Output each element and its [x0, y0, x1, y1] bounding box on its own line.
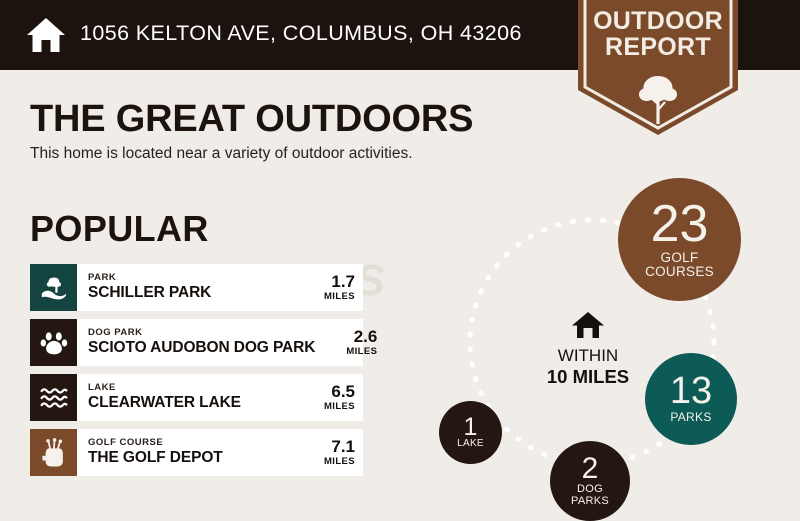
poi-category: PARK [88, 273, 293, 284]
within-line-1: WITHIN [518, 346, 658, 366]
poi-distance: 6.5 MILES [293, 374, 363, 421]
page-subtitle: This home is located near a variety of o… [30, 145, 413, 163]
house-icon [24, 13, 68, 57]
paw-print-icon [40, 329, 68, 357]
list-item[interactable]: LAKE CLEARWATER LAKE 6.5 MILES [30, 374, 363, 421]
bubble-golf-courses: 23 GOLF COURSES [618, 178, 741, 301]
bubble-label-line-2: COURSES [645, 265, 714, 279]
bubble-parks: 13 PARKS [645, 353, 737, 445]
popular-places-list: PARK SCHILLER PARK 1.7 MILES DOG PARK [30, 264, 363, 484]
bubble-label-line-1: LAKE [457, 439, 484, 450]
bubble-count: 23 [651, 200, 709, 249]
poi-text: LAKE CLEARWATER LAKE [77, 374, 293, 421]
bubble-count: 1 [464, 416, 478, 440]
list-item[interactable]: PARK SCHILLER PARK 1.7 MILES [30, 264, 363, 311]
poi-distance-unit: MILES [346, 346, 377, 357]
outdoor-report-infographic: 1056 KELTON AVE, COLUMBUS, OH 43206 OUTD… [0, 0, 800, 521]
poi-distance: 7.1 MILES [293, 429, 363, 476]
list-item[interactable]: GOLF COURSE THE GOLF DEPOT 7.1 MILES [30, 429, 363, 476]
poi-distance-value: 1.7 [331, 273, 355, 291]
poi-category: GOLF COURSE [88, 438, 293, 449]
poi-distance-unit: MILES [324, 456, 355, 467]
poi-text: PARK SCHILLER PARK [77, 264, 293, 311]
page-title: THE GREAT OUTDOORS [30, 98, 473, 141]
golf-bag-icon [40, 438, 68, 468]
bubble-label-line-2: PARKS [571, 496, 609, 508]
bubble-label-line-1: DOG [577, 484, 603, 496]
poi-icon-box [30, 429, 77, 476]
bubble-lake: 1 LAKE [439, 401, 502, 464]
poi-name: THE GOLF DEPOT [88, 449, 293, 467]
poi-text: GOLF COURSE THE GOLF DEPOT [77, 429, 293, 476]
poi-distance-value: 7.1 [331, 438, 355, 456]
poi-distance-unit: MILES [324, 401, 355, 412]
poi-icon-box [30, 264, 77, 311]
bubble-label-line-1: PARKS [670, 411, 711, 424]
poi-distance-value: 2.6 [354, 328, 378, 346]
bubble-label-line-1: GOLF [661, 251, 699, 265]
bubble-dog-parks: 2 DOG PARKS [550, 441, 630, 521]
poi-name: CLEARWATER LAKE [88, 394, 293, 412]
poi-name: SCHILLER PARK [88, 284, 293, 302]
water-waves-icon [39, 385, 69, 411]
within-radius-label: WITHIN 10 MILES [518, 310, 658, 387]
poi-distance-value: 6.5 [331, 383, 355, 401]
outdoor-report-badge: OUTDOOR REPORT [578, 0, 738, 135]
bubble-count: 2 [582, 455, 599, 483]
popular-section-heading: POPULAR [30, 208, 209, 250]
park-tree-icon [39, 273, 69, 303]
property-address: 1056 KELTON AVE, COLUMBUS, OH 43206 [80, 21, 522, 46]
poi-icon-box [30, 319, 77, 366]
list-item[interactable]: DOG PARK SCIOTO AUDOBON DOG PARK 2.6 MIL… [30, 319, 363, 366]
poi-category: LAKE [88, 383, 293, 394]
poi-name: SCIOTO AUDOBON DOG PARK [88, 339, 315, 357]
poi-distance: 1.7 MILES [293, 264, 363, 311]
within-line-2: 10 MILES [518, 366, 658, 387]
bubble-count: 13 [670, 374, 712, 410]
poi-distance: 2.6 MILES [315, 319, 385, 366]
poi-distance-unit: MILES [324, 291, 355, 302]
poi-category: DOG PARK [88, 328, 315, 339]
poi-icon-box [30, 374, 77, 421]
house-icon [571, 310, 605, 340]
poi-text: DOG PARK SCIOTO AUDOBON DOG PARK [77, 319, 315, 366]
